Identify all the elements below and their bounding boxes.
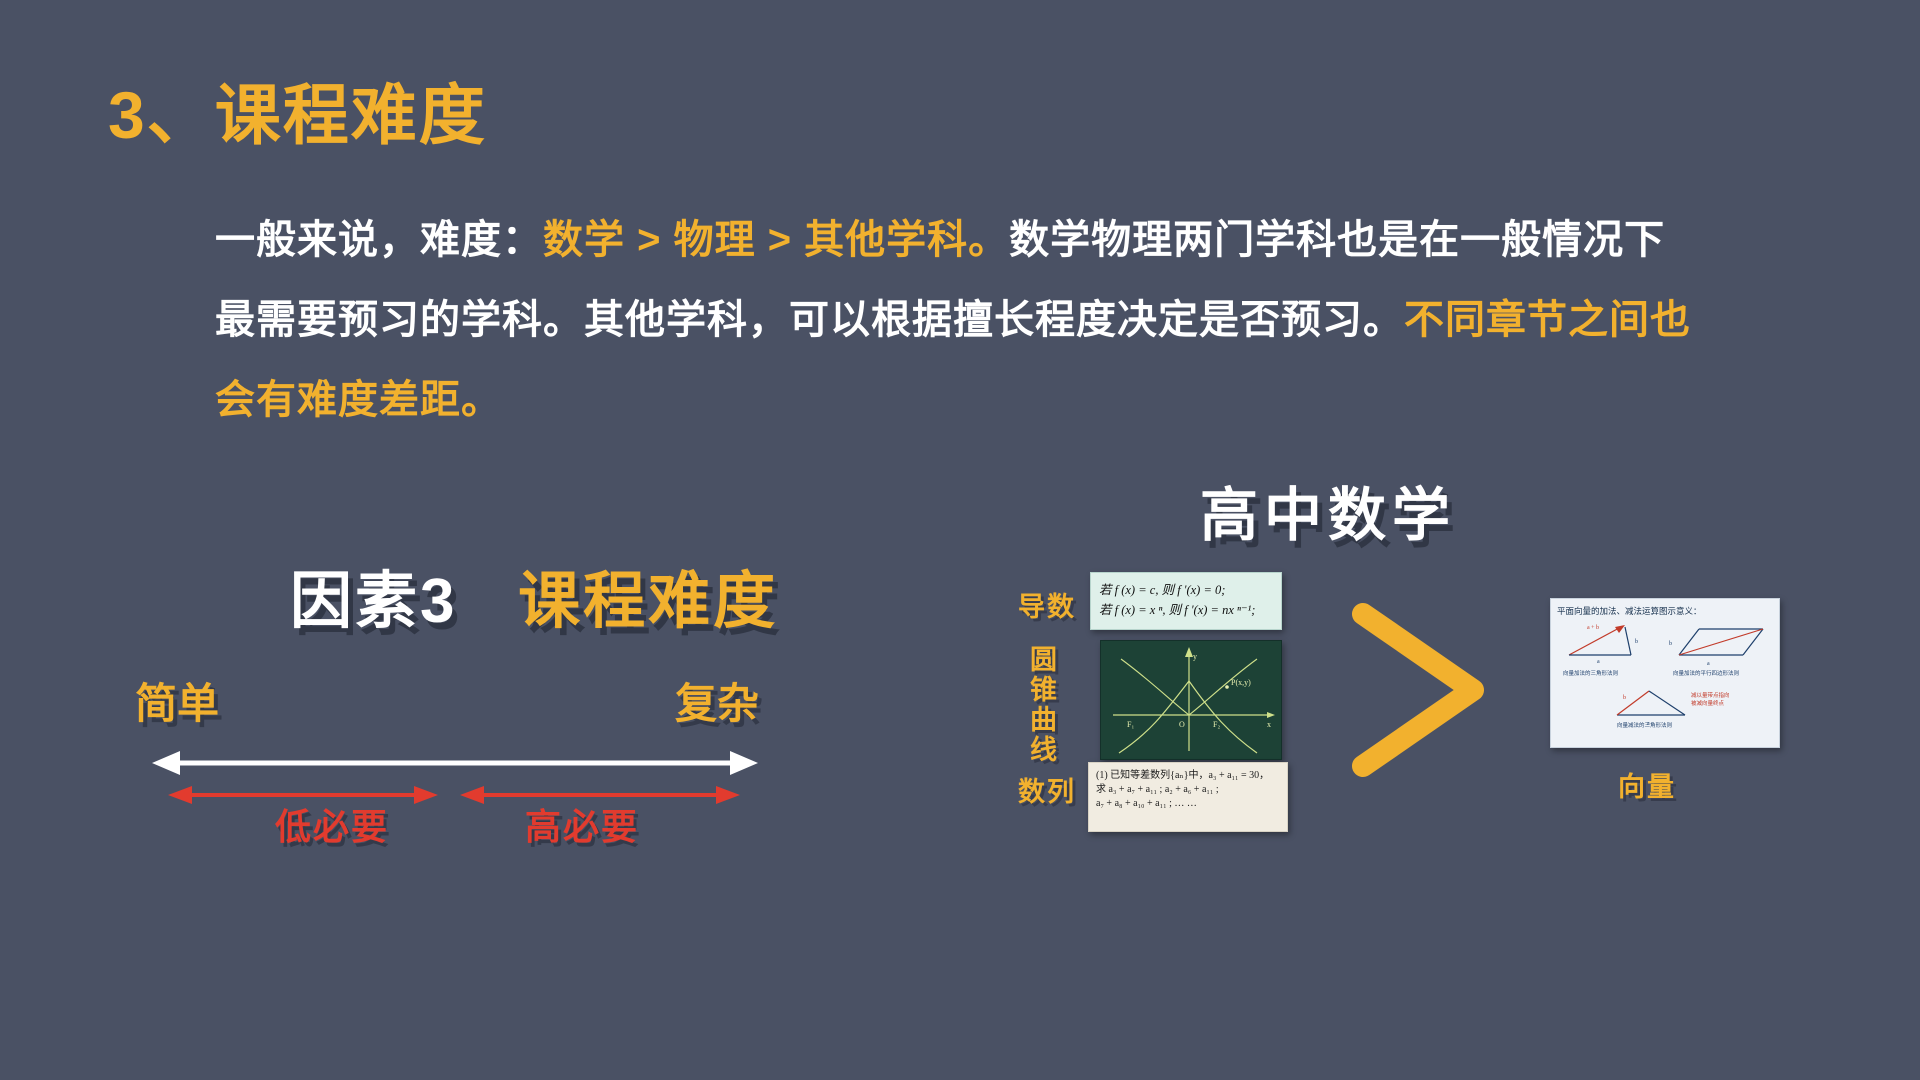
- sequence-problem-line1: (1) 已知等差数列{aₙ}中，a₃ + a₁₁ = 30，: [1096, 769, 1280, 783]
- body-paragraph: 一般来说，难度：数学 > 物理 > 其他学科。数学物理两门学科也是在一般情况下最…: [215, 200, 1695, 440]
- label-conic-section: 圆锥曲线: [1030, 645, 1060, 765]
- vector-diagram-card: 平面向量的加法、减法运算图示意义： a + b a b 向量加法的三角形法则 a…: [1550, 598, 1780, 748]
- scale-label-simple: 简单: [135, 670, 219, 731]
- factor-badge-title: 课程难度: [518, 567, 778, 636]
- svg-text:x: x: [1267, 720, 1271, 729]
- derivative-formula-line1: 若 f (x) = c, 则 f '(x) = 0;: [1099, 580, 1273, 600]
- label-derivative: 导数: [1018, 585, 1076, 624]
- highschool-math-illustration: 高中数学 导数 圆锥曲线 数列 若 f (x) = c, 则 f '(x) = …: [990, 480, 1800, 910]
- vector-card-title: 平面向量的加法、减法运算图示意义：: [1557, 605, 1773, 617]
- svg-text:向量减法的三角形法则: 向量减法的三角形法则: [1617, 721, 1672, 729]
- paragraph-difficulty-order: 数学 > 物理 > 其他学科。: [543, 218, 1009, 262]
- chevron-right-icon: [1345, 600, 1495, 780]
- svg-text:a: a: [1597, 659, 1600, 665]
- conic-graph-card: P(x,y) y x F₁ O F₂: [1100, 640, 1282, 760]
- label-low-necessity: 低必要: [275, 798, 389, 850]
- scale-label-complex: 复杂: [675, 670, 759, 731]
- svg-text:被减向量终点: 被减向量终点: [1691, 699, 1725, 707]
- svg-text:向量加法的三角形法则: 向量加法的三角形法则: [1563, 669, 1618, 677]
- highschool-math-heading: 高中数学: [1200, 468, 1456, 552]
- sequence-problem-line3: a₇ + a₈ + a₁₀ + a₁₁ ; … …: [1096, 797, 1280, 811]
- paragraph-line1-lead: 一般来说，难度：: [215, 218, 543, 262]
- svg-text:b: b: [1635, 639, 1638, 645]
- label-sequence: 数列: [1018, 770, 1076, 809]
- svg-text:减以量带点指向: 减以量带点指向: [1691, 691, 1730, 699]
- svg-text:P(x,y): P(x,y): [1231, 678, 1251, 687]
- conic-graph-icon: P(x,y) y x F₁ O F₂: [1101, 641, 1281, 759]
- derivative-formula-card: 若 f (x) = c, 则 f '(x) = 0; 若 f (x) = x ⁿ…: [1090, 572, 1282, 630]
- svg-text:O: O: [1179, 720, 1185, 729]
- svg-text:b: b: [1669, 641, 1672, 647]
- svg-text:向量加法的平行四边形法则: 向量加法的平行四边形法则: [1673, 669, 1739, 677]
- svg-text:F₂: F₂: [1213, 720, 1220, 729]
- sequence-problem-card: (1) 已知等差数列{aₙ}中，a₃ + a₁₁ = 30， 求 a₃ + a₇…: [1088, 762, 1288, 832]
- factor-badge-number: 因素3: [290, 567, 457, 636]
- svg-text:a: a: [1707, 661, 1710, 667]
- derivative-formula-line2: 若 f (x) = x ⁿ, 则 f '(x) = nx ⁿ⁻¹;: [1099, 600, 1273, 620]
- sequence-problem-line2: 求 a₃ + a₇ + a₁₁ ; a₂ + a₆ + a₁₁ ;: [1096, 783, 1280, 797]
- svg-text:a + b: a + b: [1587, 625, 1599, 631]
- label-high-necessity: 高必要: [525, 798, 639, 850]
- difficulty-scale-illustration: 因素3 课程难度 简单 复杂 低必要 高必要: [150, 510, 870, 930]
- double-headed-arrow-icon: [150, 748, 760, 778]
- svg-text:y: y: [1193, 652, 1197, 661]
- vector-diagram-icon: a + b a b 向量加法的三角形法则 a b 向量加法的平行四边形法则 a …: [1557, 617, 1775, 729]
- svg-text:F₁: F₁: [1127, 720, 1134, 729]
- factor-badge: 因素3 课程难度: [290, 550, 778, 640]
- svg-text:b: b: [1623, 695, 1626, 701]
- page-title: 3、课程难度: [108, 62, 487, 158]
- necessity-arrows-icon: [150, 782, 760, 808]
- paragraph-line1-tail: 数学物理两门学科也是在: [1009, 218, 1460, 262]
- label-vector: 向量: [1618, 765, 1676, 804]
- paragraph-line3-lead: 否预习。: [1240, 298, 1404, 342]
